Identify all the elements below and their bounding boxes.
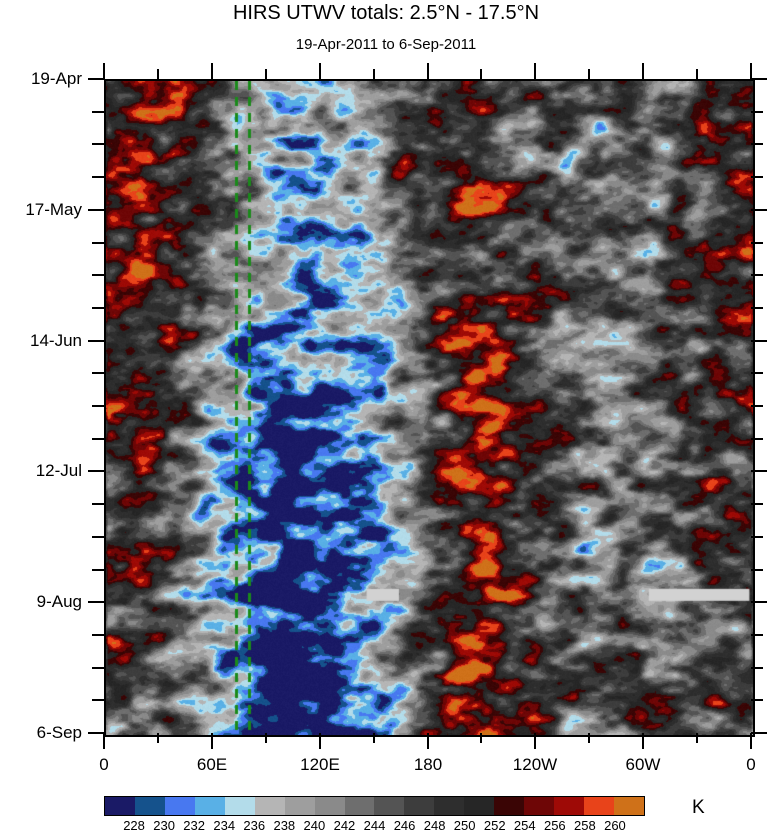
x-axis-minor-tick [480, 733, 482, 743]
y-axis-minor-tick-right [751, 503, 763, 505]
x-axis-minor-tick [157, 733, 159, 743]
colorbar-swatch [614, 797, 644, 815]
y-axis-minor-tick [92, 699, 104, 701]
y-axis-minor-tick-right [751, 569, 763, 571]
x-axis-major-tick [103, 63, 105, 79]
x-axis-major-tick [427, 63, 429, 79]
x-axis-minor-tick [373, 69, 375, 79]
y-axis-minor-tick [92, 634, 104, 636]
colorbar-tick-label: 236 [243, 818, 265, 833]
x-axis-major-tick [319, 63, 321, 79]
colorbar-tick-label: 228 [123, 818, 145, 833]
x-axis-label: 120W [513, 756, 557, 773]
colorbar-swatch [374, 797, 404, 815]
colorbar-tick-label: 242 [334, 818, 356, 833]
x-axis-major-tick [534, 733, 536, 749]
x-axis-label: 60W [626, 756, 661, 773]
colorbar-swatch [345, 797, 375, 815]
y-axis-minor-tick [92, 274, 104, 276]
colorbar-swatch [494, 797, 524, 815]
colorbar-tick-label: 250 [454, 818, 476, 833]
y-axis-label: 6-Sep [37, 724, 82, 741]
y-axis-minor-tick [92, 111, 104, 113]
hovmoller-figure: HIRS UTWV totals: 2.5°N - 17.5°N 19-Apr-… [0, 0, 772, 834]
colorbar-swatch [554, 797, 584, 815]
colorbar-swatch [404, 797, 434, 815]
y-axis-major-tick [88, 732, 104, 734]
y-axis-minor-tick-right [751, 307, 763, 309]
y-axis-major-tick [88, 340, 104, 342]
colorbar-tick-label: 254 [514, 818, 536, 833]
y-axis-minor-tick-right [751, 143, 763, 145]
x-axis-major-tick [534, 63, 536, 79]
x-axis-major-tick [211, 733, 213, 749]
x-axis-major-tick [750, 63, 752, 79]
colorbar-swatch [584, 797, 614, 815]
colorbar-tick-label: 232 [183, 818, 205, 833]
colorbar-tick-label: 258 [574, 818, 596, 833]
colorbar-swatch [105, 797, 135, 815]
y-axis-major-tick-right [751, 601, 767, 603]
x-axis-label: 60E [197, 756, 227, 773]
colorbar-swatch [434, 797, 464, 815]
y-axis-major-tick-right [751, 209, 767, 211]
colorbar [104, 796, 645, 816]
y-axis-minor-tick [92, 536, 104, 538]
y-axis-major-tick [88, 209, 104, 211]
y-axis-label: 19-Apr [31, 70, 82, 87]
y-axis-minor-tick [92, 372, 104, 374]
y-axis-minor-tick-right [751, 372, 763, 374]
x-axis-minor-tick [157, 69, 159, 79]
figure-subtitle: 19-Apr-2011 to 6-Sep-2011 [0, 36, 772, 54]
x-axis-minor-tick [588, 69, 590, 79]
x-axis-major-tick [750, 733, 752, 749]
x-axis-minor-tick [480, 69, 482, 79]
x-axis-minor-tick [265, 733, 267, 743]
y-axis-minor-tick-right [751, 699, 763, 701]
x-axis-major-tick [642, 63, 644, 79]
x-axis-minor-tick [696, 733, 698, 743]
y-axis-minor-tick [92, 307, 104, 309]
y-axis-major-tick-right [751, 470, 767, 472]
x-axis-minor-tick [588, 733, 590, 743]
x-axis-minor-tick [265, 69, 267, 79]
y-axis-minor-tick-right [751, 242, 763, 244]
y-axis-minor-tick-right [751, 438, 763, 440]
y-axis-major-tick-right [751, 732, 767, 734]
y-axis-minor-tick [92, 503, 104, 505]
y-axis-minor-tick [92, 405, 104, 407]
y-axis-minor-tick [92, 176, 104, 178]
colorbar-swatch [464, 797, 494, 815]
y-axis-minor-tick-right [751, 667, 763, 669]
colorbar-swatch [135, 797, 165, 815]
y-axis-minor-tick-right [751, 536, 763, 538]
y-axis-minor-tick-right [751, 634, 763, 636]
colorbar-swatch [524, 797, 554, 815]
colorbar-swatch [225, 797, 255, 815]
x-axis-minor-tick [696, 69, 698, 79]
colorbar-swatch [255, 797, 285, 815]
x-axis-label: 120E [300, 756, 340, 773]
x-axis-major-tick [427, 733, 429, 749]
colorbar-swatch [285, 797, 315, 815]
x-axis-major-tick [642, 733, 644, 749]
y-axis-minor-tick [92, 242, 104, 244]
colorbar-tick-label: 238 [273, 818, 295, 833]
y-axis-label: 12-Jul [36, 462, 82, 479]
hovmoller-heatmap-canvas [106, 81, 753, 735]
x-axis-label: 180 [414, 756, 442, 773]
y-axis-minor-tick-right [751, 274, 763, 276]
colorbar-tick-label: 230 [153, 818, 175, 833]
colorbar-tick-label: 244 [364, 818, 386, 833]
y-axis-major-tick [88, 601, 104, 603]
plot-area [104, 79, 755, 737]
colorbar-swatch [195, 797, 225, 815]
y-axis-minor-tick-right [751, 405, 763, 407]
y-axis-major-tick [88, 78, 104, 80]
y-axis-minor-tick [92, 438, 104, 440]
colorbar-tick-label: 246 [394, 818, 416, 833]
colorbar-swatch [165, 797, 195, 815]
colorbar-tick-label: 256 [544, 818, 566, 833]
colorbar-tick-label: 240 [304, 818, 326, 833]
colorbar-tick-label: 234 [213, 818, 235, 833]
x-axis-major-tick [319, 733, 321, 749]
colorbar-tick-label: 252 [484, 818, 506, 833]
x-axis-major-tick [211, 63, 213, 79]
colorbar-swatch [315, 797, 345, 815]
x-axis-label: 0 [746, 756, 755, 773]
page-title: HIRS UTWV totals: 2.5°N - 17.5°N [0, 1, 772, 25]
colorbar-unit-label: K [692, 797, 705, 819]
colorbar-tick-labels: 2282302322342362382402422442462482502522… [104, 818, 645, 834]
y-axis-minor-tick-right [751, 176, 763, 178]
x-axis-label: 0 [99, 756, 108, 773]
y-axis-label: 17-May [25, 201, 82, 218]
y-axis-label: 9-Aug [37, 593, 82, 610]
y-axis-major-tick-right [751, 340, 767, 342]
y-axis-minor-tick [92, 143, 104, 145]
y-axis-minor-tick [92, 667, 104, 669]
y-axis-label: 14-Jun [30, 332, 82, 349]
y-axis-major-tick [88, 470, 104, 472]
colorbar-tick-label: 260 [604, 818, 626, 833]
y-axis-minor-tick [92, 569, 104, 571]
y-axis-minor-tick-right [751, 111, 763, 113]
colorbar-tick-label: 248 [424, 818, 446, 833]
y-axis-major-tick-right [751, 78, 767, 80]
x-axis-major-tick [103, 733, 105, 749]
x-axis-minor-tick [373, 733, 375, 743]
